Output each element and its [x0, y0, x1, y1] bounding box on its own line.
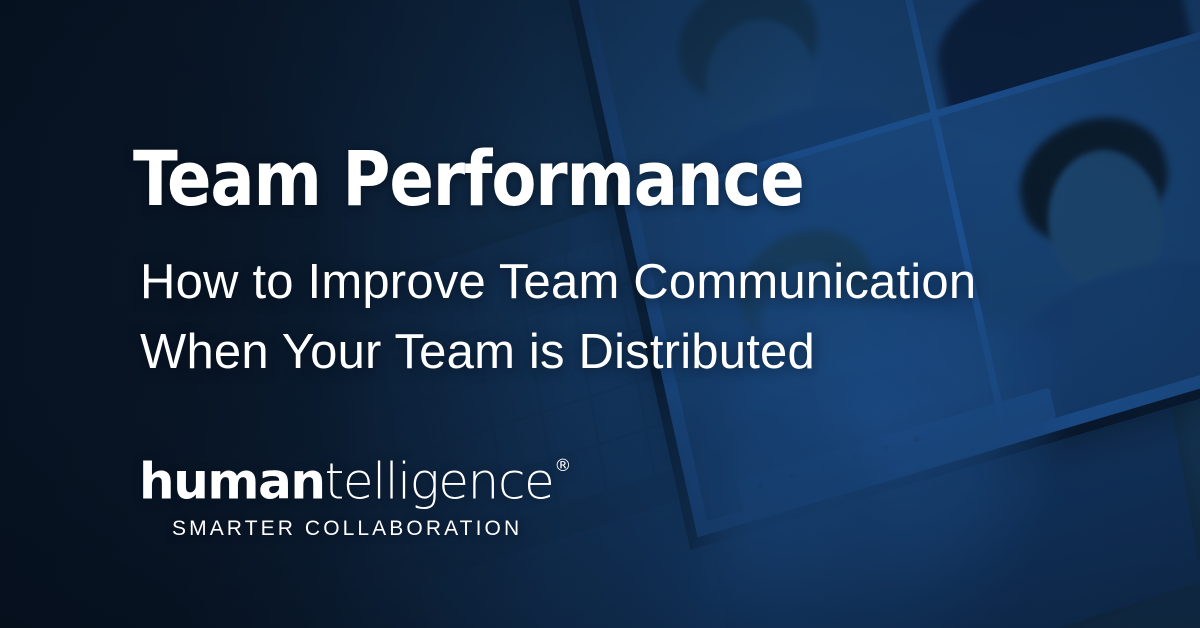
- headline-line-1: How to Improve Team Communication: [140, 247, 976, 317]
- banner-card: Team Performance How to Improve Team Com…: [0, 0, 1200, 628]
- logo-wordmark: humantelligence®: [139, 447, 569, 511]
- logo-word-bold: human: [139, 453, 325, 511]
- category-title: Team Performance: [133, 141, 804, 217]
- headline: How to Improve Team Communication When Y…: [140, 247, 976, 387]
- brand-logo: humantelligence® SMARTER COLLABORATION: [139, 447, 569, 541]
- banner-content: Team Performance How to Improve Team Com…: [0, 0, 1200, 628]
- registered-trademark-icon: ®: [554, 456, 570, 476]
- logo-word-light: telligence: [325, 453, 554, 511]
- logo-tagline: SMARTER COLLABORATION: [172, 517, 569, 541]
- headline-line-2: When Your Team is Distributed: [140, 317, 976, 387]
